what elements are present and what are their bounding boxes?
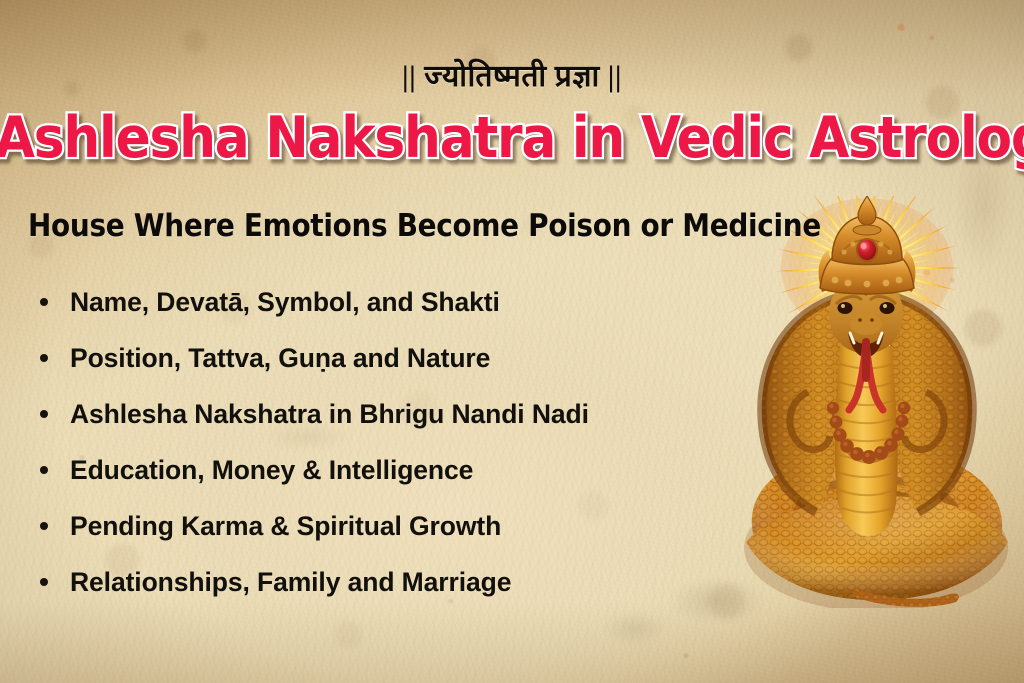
list-item-label: Ashlesha Nakshatra in Bhrigu Nandi Nadi (70, 399, 589, 430)
list-item: Position, Tattva, Guṇa and Nature (36, 330, 736, 386)
bullet-dot-icon (40, 410, 48, 418)
topic-list: Name, Devatā, Symbol, and Shakti Positio… (36, 274, 736, 610)
sanskrit-tagline: || ज्योतिष्मती प्रज्ञा || (0, 54, 1024, 95)
page-title: Ashlesha Nakshatra in Vedic Astrology (0, 110, 1024, 167)
bullet-dot-icon (40, 578, 48, 586)
bullet-dot-icon (40, 522, 48, 530)
list-item: Name, Devatā, Symbol, and Shakti (36, 274, 736, 330)
page-subtitle: House Where Emotions Become Poison or Me… (28, 208, 821, 244)
list-item-label: Name, Devatā, Symbol, and Shakti (70, 287, 500, 318)
bullet-dot-icon (40, 354, 48, 362)
list-item: Relationships, Family and Marriage (36, 554, 736, 610)
list-item-label: Education, Money & Intelligence (70, 455, 473, 486)
bullet-dot-icon (40, 466, 48, 474)
list-item: Pending Karma & Spiritual Growth (36, 498, 736, 554)
list-item: Ashlesha Nakshatra in Bhrigu Nandi Nadi (36, 386, 736, 442)
text-content: || ज्योतिष्मती प्रज्ञा || Ashlesha Naksh… (0, 0, 1024, 683)
bullet-dot-icon (40, 298, 48, 306)
list-item: Education, Money & Intelligence (36, 442, 736, 498)
poster-canvas: || ज्योतिष्मती प्रज्ञा || Ashlesha Naksh… (0, 0, 1024, 683)
list-item-label: Pending Karma & Spiritual Growth (70, 511, 501, 542)
list-item-label: Relationships, Family and Marriage (70, 567, 511, 598)
list-item-label: Position, Tattva, Guṇa and Nature (70, 343, 490, 374)
